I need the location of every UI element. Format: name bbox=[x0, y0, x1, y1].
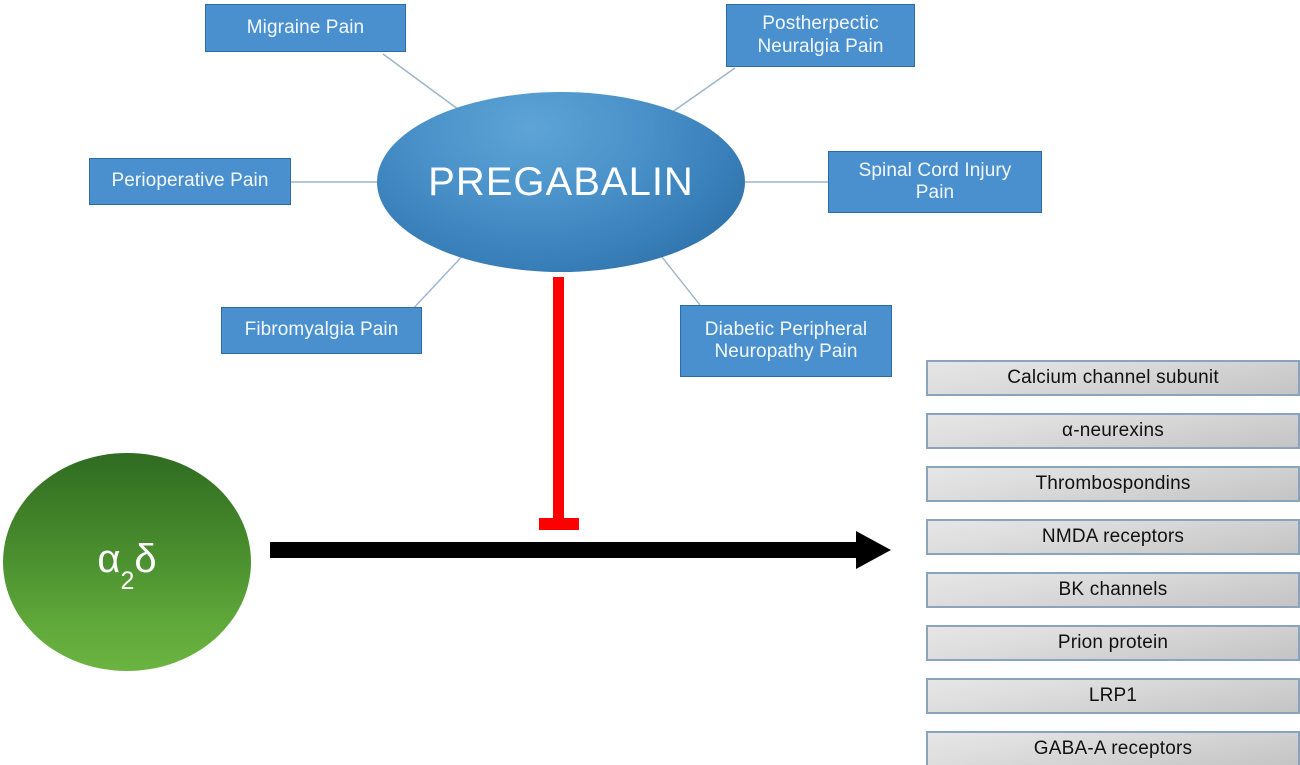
target-box-alpha-neurexins[interactable]: α-neurexins bbox=[926, 413, 1300, 449]
target-label: Thrombospondins bbox=[1035, 473, 1190, 495]
target-label: Calcium channel subunit bbox=[1007, 367, 1219, 389]
target-label: LRP1 bbox=[1089, 685, 1137, 707]
spoke-diabetic bbox=[658, 252, 700, 305]
target-label: BK channels bbox=[1059, 579, 1168, 601]
spoke-fibromyalgia bbox=[410, 250, 468, 312]
diagram-canvas: Migraine Pain Postherpectic Neuralgia Pa… bbox=[0, 0, 1300, 765]
target-box-bk-channels[interactable]: BK channels bbox=[926, 572, 1300, 608]
activation-arrow-shaft bbox=[270, 542, 864, 558]
inhibition-connector-stem bbox=[553, 277, 564, 525]
alpha2delta-label: α2δ bbox=[97, 537, 156, 588]
alpha2delta-delta: δ bbox=[134, 537, 156, 581]
pain-box-spinal-cord-injury[interactable]: Spinal Cord Injury Pain bbox=[828, 151, 1042, 213]
target-box-prion-protein[interactable]: Prion protein bbox=[926, 625, 1300, 661]
pain-box-diabetic-line2: Neuropathy Pain bbox=[714, 341, 857, 363]
pregabalin-ellipse[interactable]: PREGABALIN bbox=[377, 92, 745, 272]
target-label: NMDA receptors bbox=[1042, 526, 1184, 548]
target-box-calcium-channel-subunit[interactable]: Calcium channel subunit bbox=[926, 360, 1300, 396]
pain-box-perioperative[interactable]: Perioperative Pain bbox=[89, 158, 291, 205]
target-label: Prion protein bbox=[1058, 632, 1168, 654]
pain-box-diabetic-peripheral-neuropathy[interactable]: Diabetic Peripheral Neuropathy Pain bbox=[680, 305, 892, 377]
pain-box-postherpectic-line2: Neuralgia Pain bbox=[757, 36, 883, 58]
activation-arrow-head bbox=[856, 531, 891, 569]
target-box-nmda-receptors[interactable]: NMDA receptors bbox=[926, 519, 1300, 555]
spoke-postherpectic bbox=[668, 68, 735, 115]
target-list: Calcium channel subunit α-neurexins Thro… bbox=[926, 360, 1300, 765]
pain-box-diabetic-line1: Diabetic Peripheral bbox=[705, 319, 867, 341]
alpha2delta-alpha: α bbox=[97, 537, 120, 581]
alpha2delta-subscript: 2 bbox=[120, 567, 134, 595]
target-box-lrp1[interactable]: LRP1 bbox=[926, 678, 1300, 714]
pain-box-migraine-label: Migraine Pain bbox=[247, 17, 364, 39]
pregabalin-label: PREGABALIN bbox=[428, 160, 694, 205]
pain-box-fibromyalgia[interactable]: Fibromyalgia Pain bbox=[221, 307, 422, 354]
target-label: GABA-A receptors bbox=[1034, 738, 1192, 760]
pain-box-postherpectic-line1: Postherpectic bbox=[762, 13, 878, 35]
pain-box-fibromyalgia-label: Fibromyalgia Pain bbox=[245, 319, 399, 341]
target-box-thrombospondins[interactable]: Thrombospondins bbox=[926, 466, 1300, 502]
pain-box-perioperative-label: Perioperative Pain bbox=[111, 170, 268, 192]
pain-box-spinal-cord-line2: Pain bbox=[916, 182, 954, 204]
pain-box-spinal-cord-line1: Spinal Cord Injury bbox=[859, 160, 1012, 182]
inhibition-connector-crossbar bbox=[539, 518, 579, 530]
pain-box-migraine[interactable]: Migraine Pain bbox=[205, 4, 406, 52]
target-label: α-neurexins bbox=[1062, 420, 1164, 442]
pain-box-postherpectic-neuralgia[interactable]: Postherpectic Neuralgia Pain bbox=[726, 4, 915, 67]
target-box-gaba-a-receptors[interactable]: GABA-A receptors bbox=[926, 731, 1300, 765]
alpha2delta-circle[interactable]: α2δ bbox=[3, 453, 251, 671]
